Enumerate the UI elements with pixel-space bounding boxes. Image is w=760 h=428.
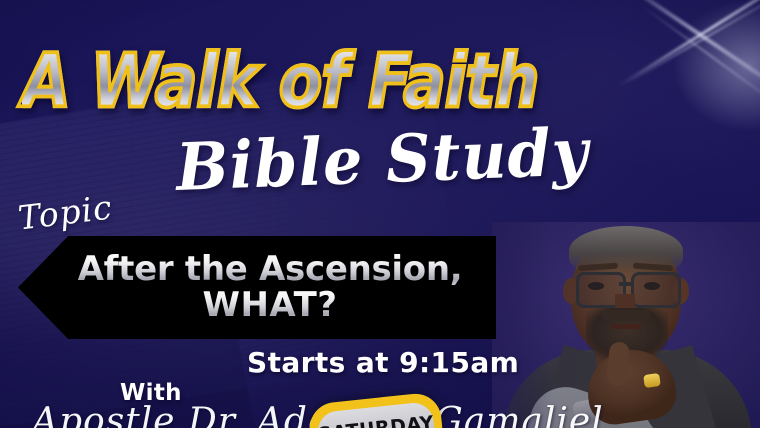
topic-line-2: WHAT? <box>202 288 337 323</box>
topic-line-1: After the Ascension, <box>78 252 463 287</box>
topic-banner-text: After the Ascension, WHAT? <box>18 236 496 339</box>
flyer-subtitle: Bible Study <box>175 120 590 201</box>
start-time-text: Starts at 9:15am <box>247 349 519 377</box>
bible-study-flyer: A Walk of Faith Bible Study Topic After … <box>0 0 760 428</box>
speaker-photo-edge-shade <box>492 222 760 428</box>
flyer-headline: A Walk of Faith <box>22 44 582 118</box>
flyer-headline-text: A Walk of Faith <box>22 38 538 124</box>
speaker-photo <box>492 222 760 428</box>
